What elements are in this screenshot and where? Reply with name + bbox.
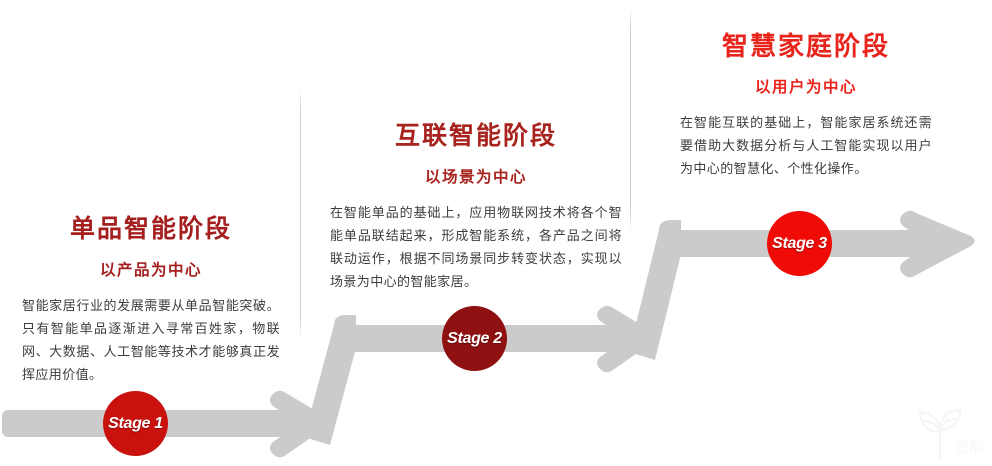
stage-1-text-block: 单品智能阶段 以产品为中心 智能家居行业的发展需要从单品智能突破。只有智能单品逐… [22,216,280,386]
stage-2-body: 在智能单品的基础上，应用物联网技术将各个智能单品联结起来，形成智能系统，各产品之… [330,201,622,294]
infographic-canvas: 单品智能阶段 以产品为中心 智能家居行业的发展需要从单品智能突破。只有智能单品逐… [0,0,992,466]
stage-3-subtitle: 以用户为中心 [680,75,932,97]
stage-1-subtitle: 以产品为中心 [22,258,280,280]
stage-1-badge[interactable]: Stage 1 [103,391,168,456]
column-divider-1 [300,88,301,338]
stage-1-title: 单品智能阶段 [22,216,280,245]
stage-2-badge[interactable]: Stage 2 [442,306,507,371]
stage-2-subtitle: 以场景为中心 [330,165,622,187]
stage-2-text-block: 互联智能阶段 以场景为中心 在智能单品的基础上，应用物联网技术将各个智能单品联结… [330,123,622,293]
arrow-run-2-corner [334,315,356,342]
stage-3-body: 在智能互联的基础上，智能家居系统还需要借助大数据分析与人工智能实现以用户为中心的… [680,111,932,180]
stage-3-text-block: 智慧家庭阶段 以用户为中心 在智能互联的基础上，智能家居系统还需要借助大数据分析… [680,32,932,180]
column-divider-2 [630,8,631,230]
stage-3-badge[interactable]: Stage 3 [767,211,832,276]
arrow-run-3-corner [659,220,681,247]
stage-3-title: 智慧家庭阶段 [680,32,932,62]
stage-1-body: 智能家居行业的发展需要从单品智能突破。只有智能单品逐渐进入寻常百姓家，物联网、大… [22,294,280,387]
arrow-run-1-cap [2,410,14,437]
stage-2-title: 互联智能阶段 [330,123,622,152]
